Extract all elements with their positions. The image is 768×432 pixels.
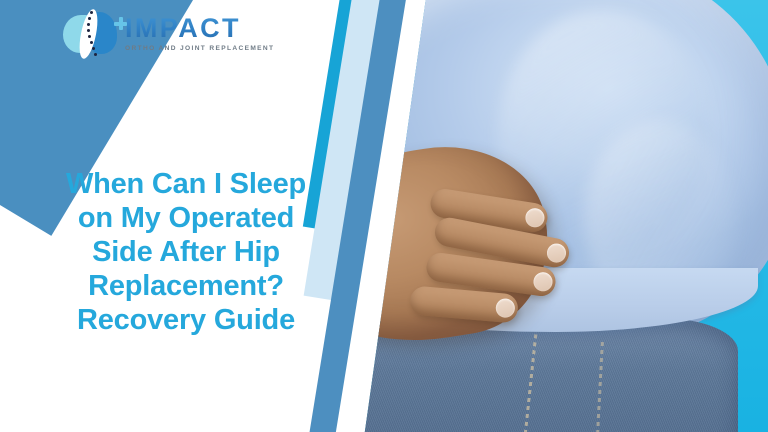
hero-photo-stage <box>348 0 768 432</box>
logo-text-block: IMPACT ORTHO AND JOINT REPLACEMENT <box>125 15 274 53</box>
fingernail-ring <box>532 271 553 292</box>
fingernail-index <box>524 207 546 229</box>
fingernail-middle <box>545 242 567 264</box>
page-title: When Can I Sleep on My Operated Side Aft… <box>54 168 318 338</box>
fingernail-little <box>495 298 516 319</box>
blog-header-banner: IMPACT ORTHO AND JOINT REPLACEMENT When … <box>0 0 768 432</box>
medical-cross-icon <box>114 17 127 30</box>
spine-circle-icon <box>62 8 118 60</box>
logo-wordmark: IMPACT <box>125 15 274 42</box>
hero-photo-panel <box>348 0 768 432</box>
logo-tagline: ORTHO AND JOINT REPLACEMENT <box>125 46 274 53</box>
brand-logo[interactable]: IMPACT ORTHO AND JOINT REPLACEMENT <box>62 8 274 60</box>
